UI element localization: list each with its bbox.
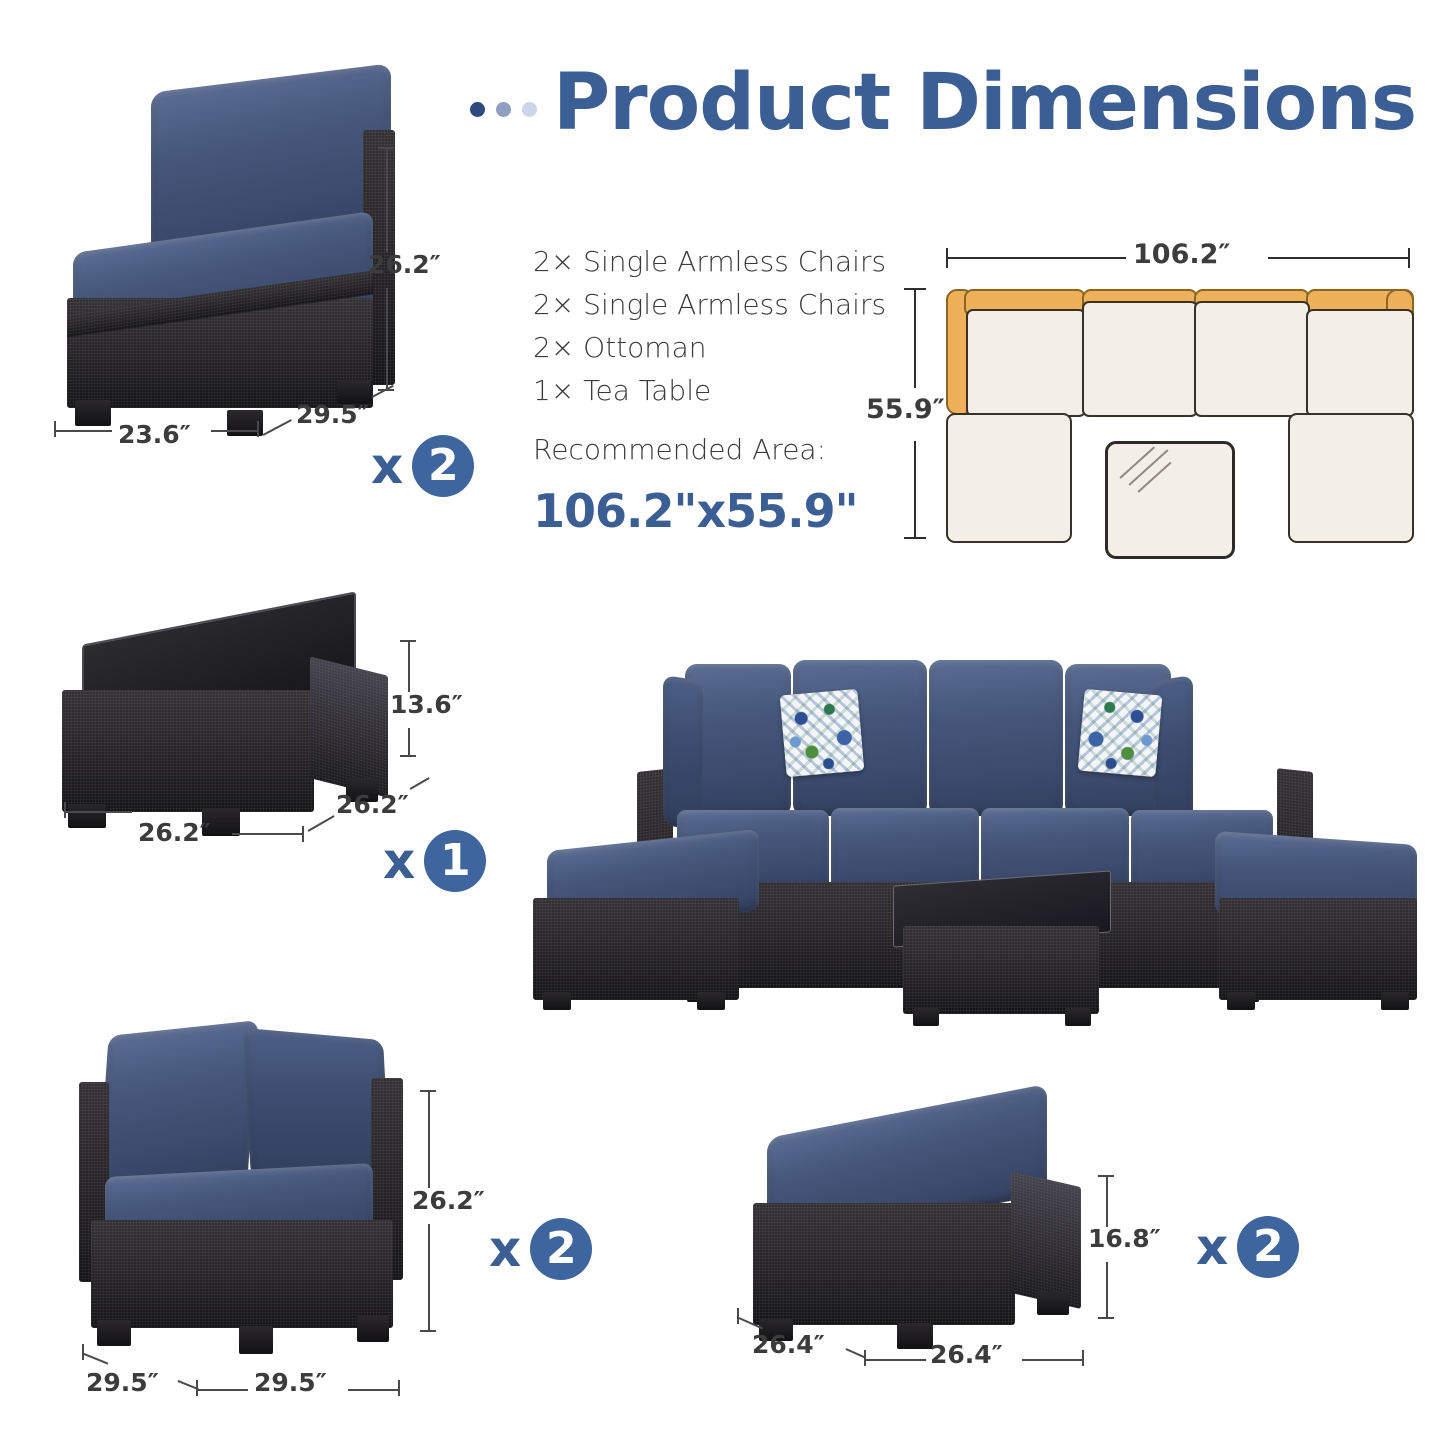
tea-table-width-label: 26.2″: [138, 818, 211, 847]
ottoman-foot-right: [1037, 1291, 1069, 1315]
corner-w-line-right: [348, 1389, 400, 1391]
plan-tea-table: [1105, 441, 1235, 559]
set-ottoman-right-foot-1: [1227, 992, 1255, 1010]
corner-chair-quantity-badge: x 2: [489, 1218, 592, 1280]
armless-w-line-right: [211, 430, 259, 432]
armless-chair-foot-left: [75, 400, 111, 426]
tea-w-cap-right: [302, 826, 304, 842]
armless-chair-quantity-badge: x 2: [371, 435, 474, 497]
corner-chair-foot-left: [97, 1320, 131, 1346]
tea-table-foot-left: [68, 804, 106, 828]
corner-h-line-bottom: [428, 1224, 430, 1332]
armless-h-line-bottom: [386, 288, 388, 390]
set-ottoman-left-foot-1: [543, 992, 571, 1010]
tea-w-line-left: [64, 811, 132, 813]
plan-depth-line-top: [914, 288, 916, 388]
armless-w-line-left: [54, 430, 112, 432]
plan-width-label: 106.2″: [1133, 239, 1230, 270]
plan-depth-line-bottom: [914, 441, 916, 539]
plan-depth-label: 55.9″: [866, 394, 945, 425]
title-dots-decoration: [470, 102, 537, 117]
corner-chair-width-label: 29.5″: [254, 1368, 327, 1397]
plan-seat-1: [966, 309, 1086, 417]
tea-table-height-label: 13.6″: [390, 690, 463, 719]
ottoman-w-cap-left: [864, 1350, 866, 1366]
corner-w-line-left: [196, 1389, 248, 1391]
infographic-canvas: Product Dimensions 2× Single Armless Cha…: [0, 0, 1445, 1445]
sofa-seat-cushion-2: [831, 808, 979, 892]
spec-item-1: 2× Single Armless Chairs: [533, 283, 913, 326]
ottoman-width-label: 26.4″: [930, 1340, 1003, 1369]
quantity-prefix: x: [1196, 1222, 1228, 1272]
quantity-prefix: x: [371, 441, 403, 491]
set-ottoman-right-base: [1219, 898, 1417, 1000]
armless-depth-label: 29.5″: [296, 400, 369, 429]
corner-h-line-top: [428, 1090, 430, 1188]
corner-h-cap-bottom: [420, 1330, 436, 1332]
dot-mid-icon: [496, 102, 511, 117]
plan-width-line-right: [1268, 257, 1410, 259]
page-title-block: Product Dimensions: [470, 55, 1430, 150]
tea-h-cap-bottom: [400, 755, 416, 757]
corner-chair-base: [91, 1220, 393, 1328]
armless-width-label: 23.6″: [118, 420, 191, 449]
full-set-photo: [525, 630, 1425, 1020]
page-title: Product Dimensions: [553, 64, 1416, 142]
spec-item-3: 1× Tea Table: [533, 369, 913, 412]
tea-w-cap-left: [64, 802, 66, 818]
plan-depth-tick-bottom: [904, 537, 926, 539]
plan-seat-2: [1082, 301, 1198, 417]
dot-dark-icon: [470, 102, 485, 117]
glass-shine-3-icon: [1137, 462, 1171, 493]
corner-w-cap-left2: [196, 1380, 198, 1396]
sofa-back-cushion-3: [929, 660, 1063, 816]
corner-chair-depth-label: 29.5″: [86, 1368, 159, 1397]
corner-chair-foot-right: [357, 1316, 389, 1342]
quantity-value: 1: [424, 830, 486, 892]
set-ottoman-left-foot-2: [697, 992, 725, 1010]
quantity-value: 2: [412, 435, 474, 497]
armless-w-cap-left: [54, 421, 56, 437]
plan-ottoman-left: [946, 413, 1072, 543]
set-tea-table-foot-2: [1065, 1008, 1091, 1026]
sofa-wing-cushion-left: [663, 675, 703, 831]
ottoman-h-line-top: [1106, 1175, 1108, 1227]
set-tea-table-base: [903, 926, 1099, 1014]
tea-table-depth-label: 26.2″: [336, 790, 409, 819]
ottoman-h-line-bottom: [1106, 1262, 1108, 1318]
plan-seat-4: [1306, 309, 1414, 417]
ottoman-side-panel: [1011, 1171, 1081, 1309]
plan-seat-3: [1194, 301, 1310, 417]
quantity-prefix: x: [383, 836, 415, 886]
plan-width-line-left: [946, 257, 1126, 259]
quantity-value: 2: [1237, 1216, 1299, 1278]
ottoman-quantity-badge: x 2: [1196, 1216, 1299, 1278]
armless-w-cap-right: [257, 421, 259, 437]
ottoman-d-cap-left: [737, 1308, 739, 1324]
tea-table-quantity-badge: x 1: [383, 830, 486, 892]
recommended-area-label: Recommended Area:: [533, 428, 913, 471]
accent-pillow-right: [1078, 689, 1163, 777]
corner-w-cap-right: [398, 1380, 400, 1396]
ottoman-front-panel: [753, 1203, 1015, 1325]
spec-item-0: 2× Single Armless Chairs: [533, 240, 913, 283]
dot-light-icon: [522, 102, 537, 117]
quantity-prefix: x: [489, 1224, 521, 1274]
ottoman-photo: [735, 1105, 1095, 1350]
set-tea-table-foot-1: [913, 1008, 939, 1026]
spec-list: 2× Single Armless Chairs 2× Single Armle…: [533, 240, 913, 538]
tea-h-line-top: [408, 640, 410, 692]
ottoman-foot-mid: [897, 1323, 933, 1349]
tea-w-line-right: [232, 833, 304, 835]
ottoman-w-line-left: [864, 1359, 926, 1361]
ottoman-h-cap-bottom: [1098, 1317, 1114, 1319]
tea-d-line-right: [410, 777, 430, 789]
ottoman-w-line-right: [1022, 1359, 1084, 1361]
floor-plan-diagram: 106.2″ 55.9″: [880, 236, 1420, 556]
tea-h-line-bottom: [408, 728, 410, 756]
plan-width-tick-right: [1408, 248, 1410, 268]
plan-ottoman-right: [1288, 413, 1414, 543]
ottoman-w-cap-right: [1082, 1350, 1084, 1366]
tea-table-front-panel: [62, 690, 314, 812]
armless-height-label: 26.2″: [368, 250, 441, 279]
spec-item-2: 2× Ottoman: [533, 326, 913, 369]
set-ottoman-left-base: [533, 898, 739, 1000]
tea-table-side-panel: [310, 656, 388, 797]
corner-chair-photo: [75, 1020, 465, 1360]
set-ottoman-right-foot-2: [1381, 992, 1409, 1010]
armless-h-line-top: [386, 147, 388, 252]
recommended-area-value: 106.2"x55.9": [533, 484, 913, 538]
quantity-value: 2: [530, 1218, 592, 1280]
ottoman-height-label: 16.8″: [1088, 1224, 1161, 1253]
accent-pillow-left: [780, 689, 865, 777]
corner-chair-height-label: 26.2″: [412, 1186, 485, 1215]
corner-chair-foot-mid: [239, 1326, 273, 1354]
ottoman-depth-label: 26.4″: [752, 1330, 825, 1359]
glass-shine-1-icon: [1119, 446, 1154, 478]
